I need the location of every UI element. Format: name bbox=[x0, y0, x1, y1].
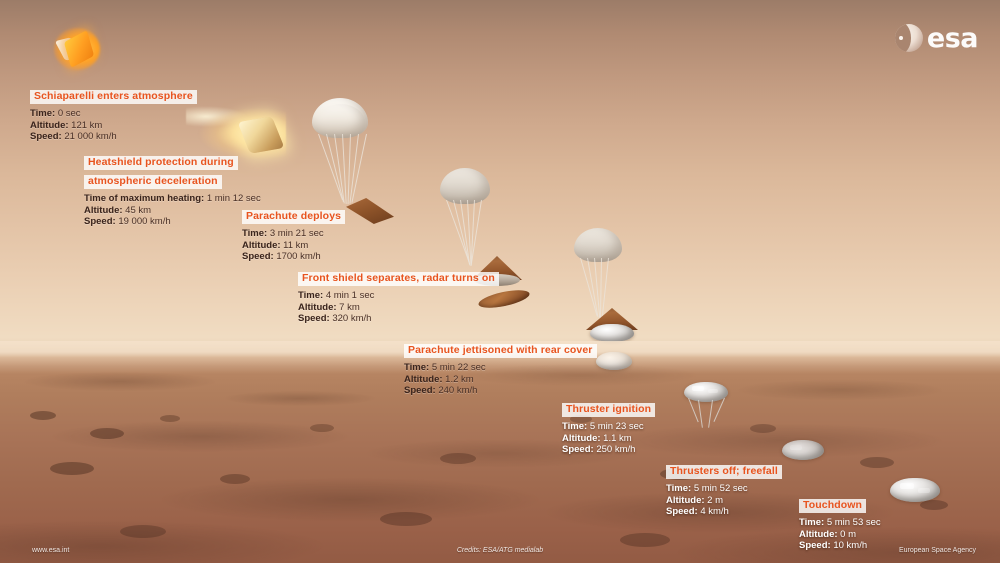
field-altitude-value: 0 m bbox=[840, 529, 856, 540]
field-altitude-label: Altitude: bbox=[30, 120, 69, 131]
label-title: Thrusters off; freefall bbox=[666, 465, 782, 480]
label-parachute-jettisoned: Parachute jettisoned with rear cover Tim… bbox=[404, 340, 597, 397]
field-speed-value: 19 000 km/h bbox=[118, 216, 170, 227]
label-rows: Time: 5 min 53 sec Altitude: 0 m Speed: … bbox=[799, 517, 881, 552]
field-time-value: 3 min 21 sec bbox=[270, 228, 324, 239]
label-time-row: Time: 3 min 21 sec bbox=[242, 228, 345, 240]
field-speed-value: 320 km/h bbox=[332, 313, 371, 324]
field-speed-value: 240 km/h bbox=[438, 385, 477, 396]
field-speed-value: 4 km/h bbox=[700, 506, 729, 517]
label-heatshield: Heatshield protection during atmospheric… bbox=[84, 152, 261, 228]
touchdown-lander-graphic bbox=[890, 478, 946, 510]
label-rows: Time: 4 min 1 sec Altitude: 7 km Speed: … bbox=[298, 290, 499, 325]
label-altitude-row: Altitude: 45 km bbox=[84, 205, 261, 217]
field-time-label: Time: bbox=[666, 483, 691, 494]
label-rows: Time: 5 min 23 sec Altitude: 1.1 km Spee… bbox=[562, 421, 655, 456]
label-altitude-row: Altitude: 7 km bbox=[298, 302, 499, 314]
field-altitude-label: Altitude: bbox=[242, 240, 281, 251]
label-speed-row: Speed: 320 km/h bbox=[298, 313, 499, 325]
field-time-label: Time: bbox=[242, 228, 267, 239]
label-time-row: Time: 5 min 22 sec bbox=[404, 362, 597, 374]
lander-module bbox=[890, 478, 940, 502]
esa-wordmark: esa bbox=[927, 25, 978, 52]
thruster-plume bbox=[698, 400, 703, 428]
label-title: Touchdown bbox=[799, 499, 866, 514]
label-altitude-row: Altitude: 1.2 km bbox=[404, 374, 597, 386]
label-time-row: Time: 5 min 23 sec bbox=[562, 421, 655, 433]
field-speed-value: 21 000 km/h bbox=[64, 131, 116, 142]
label-speed-row: Speed: 19 000 km/h bbox=[84, 216, 261, 228]
field-altitude-value: 121 km bbox=[71, 120, 102, 131]
field-time-label: Time: bbox=[298, 290, 323, 301]
website-url[interactable]: www.esa.int bbox=[32, 547, 69, 554]
entry-capsule-graphic bbox=[54, 28, 104, 76]
parachute-canopy-shadow bbox=[316, 104, 366, 138]
label-speed-row: Speed: 4 km/h bbox=[666, 506, 782, 518]
parachute-canopy bbox=[440, 168, 490, 204]
field-time-label: Time: bbox=[404, 362, 429, 373]
field-time-label: Time: bbox=[562, 421, 587, 432]
field-speed-label: Speed: bbox=[298, 313, 330, 324]
field-time-value: 5 min 23 sec bbox=[590, 421, 644, 432]
label-altitude-row: Altitude: 2 m bbox=[666, 495, 782, 507]
label-altitude-row: Altitude: 0 m bbox=[799, 529, 881, 541]
label-entry: Schiaparelli enters atmosphere Time: 0 s… bbox=[30, 86, 197, 143]
field-altitude-value: 7 km bbox=[339, 302, 360, 313]
field-altitude-label: Altitude: bbox=[562, 433, 601, 444]
field-altitude-label: Altitude: bbox=[298, 302, 337, 313]
field-altitude-value: 11 km bbox=[283, 240, 308, 251]
label-front-shield-separates: Front shield separates, radar turns on T… bbox=[298, 268, 499, 325]
field-speed-label: Speed: bbox=[799, 540, 831, 551]
parachute-cords bbox=[306, 134, 406, 206]
field-time-label: Time of maximum heating: bbox=[84, 193, 204, 204]
label-rows: Time: 0 sec Altitude: 121 km Speed: 21 0… bbox=[30, 108, 197, 143]
parachute-canopy bbox=[574, 228, 622, 262]
parachute-cords bbox=[436, 200, 546, 268]
thruster-plume bbox=[708, 400, 713, 428]
field-time-value: 5 min 53 sec bbox=[827, 517, 881, 528]
field-time-value: 5 min 52 sec bbox=[694, 483, 748, 494]
field-speed-label: Speed: bbox=[242, 251, 274, 262]
esa-logo[interactable]: esa bbox=[895, 24, 978, 52]
field-altitude-label: Altitude: bbox=[84, 205, 123, 216]
field-speed-value: 250 km/h bbox=[596, 444, 635, 455]
field-time-label: Time: bbox=[799, 517, 824, 528]
field-time-value: 1 min 12 sec bbox=[207, 193, 261, 204]
field-speed-label: Speed: bbox=[84, 216, 116, 227]
field-speed-label: Speed: bbox=[666, 506, 698, 517]
field-time-value: 5 min 22 sec bbox=[432, 362, 486, 373]
esa-globe-icon bbox=[895, 24, 923, 52]
landing-sequence-infographic: Schiaparelli enters atmosphere Time: 0 s… bbox=[0, 0, 1000, 563]
field-speed-value: 1700 km/h bbox=[276, 251, 320, 262]
thruster-plume bbox=[688, 398, 699, 422]
label-time-row: Time: 0 sec bbox=[30, 108, 197, 120]
label-touchdown: Touchdown Time: 5 min 53 sec Altitude: 0… bbox=[799, 495, 881, 552]
field-time-label: Time: bbox=[30, 108, 55, 119]
freefall-lander-graphic bbox=[782, 440, 828, 466]
label-thrusters-off: Thrusters off; freefall Time: 5 min 52 s… bbox=[666, 461, 782, 518]
field-altitude-label: Altitude: bbox=[799, 529, 838, 540]
label-speed-row: Speed: 1700 km/h bbox=[242, 251, 345, 263]
label-title: Parachute jettisoned with rear cover bbox=[404, 344, 597, 359]
label-title: Parachute deploys bbox=[242, 210, 345, 225]
label-time-row: Time: 5 min 52 sec bbox=[666, 483, 782, 495]
label-speed-row: Speed: 250 km/h bbox=[562, 444, 655, 456]
credits-text: Credits: ESA/ATG medialab bbox=[457, 547, 543, 554]
label-speed-row: Speed: 21 000 km/h bbox=[30, 131, 197, 143]
lander-module bbox=[782, 440, 824, 460]
lander-module bbox=[590, 324, 634, 342]
field-time-value: 4 min 1 sec bbox=[326, 290, 375, 301]
label-rows: Time: 5 min 52 sec Altitude: 2 m Speed: … bbox=[666, 483, 782, 518]
field-speed-label: Speed: bbox=[562, 444, 594, 455]
label-speed-row: Speed: 10 km/h bbox=[799, 540, 881, 552]
label-title-line2: atmospheric deceleration bbox=[84, 175, 222, 190]
label-title: Schiaparelli enters atmosphere bbox=[30, 90, 197, 105]
label-altitude-row: Altitude: 11 km bbox=[242, 240, 345, 252]
lander-freefall bbox=[596, 352, 632, 370]
label-rows: Time: 3 min 21 sec Altitude: 11 km Speed… bbox=[242, 228, 345, 263]
parachute-cords bbox=[566, 258, 666, 320]
field-altitude-value: 45 km bbox=[125, 205, 151, 216]
label-title: Thruster ignition bbox=[562, 403, 655, 418]
agency-name: European Space Agency bbox=[899, 547, 976, 554]
label-title: Heatshield protection during bbox=[84, 156, 238, 171]
label-title: Front shield separates, radar turns on bbox=[298, 272, 499, 287]
field-speed-label: Speed: bbox=[30, 131, 62, 142]
label-speed-row: Speed: 240 km/h bbox=[404, 385, 597, 397]
label-rows: Time of maximum heating: 1 min 12 sec Al… bbox=[84, 193, 261, 228]
thruster-ignition-graphic bbox=[676, 382, 746, 430]
thruster-plume bbox=[713, 398, 724, 422]
field-altitude-value: 1.1 km bbox=[603, 433, 632, 444]
lander-module bbox=[684, 382, 728, 402]
field-speed-label: Speed: bbox=[404, 385, 436, 396]
field-time-value: 0 sec bbox=[58, 108, 81, 119]
label-time-row: Time: 4 min 1 sec bbox=[298, 290, 499, 302]
field-altitude-label: Altitude: bbox=[404, 374, 443, 385]
label-rows: Time: 5 min 22 sec Altitude: 1.2 km Spee… bbox=[404, 362, 597, 397]
label-altitude-row: Altitude: 1.1 km bbox=[562, 433, 655, 445]
label-altitude-row: Altitude: 121 km bbox=[30, 120, 197, 132]
label-time-row: Time of maximum heating: 1 min 12 sec bbox=[84, 193, 261, 205]
label-parachute-deploy: Parachute deploys Time: 3 min 21 sec Alt… bbox=[242, 206, 345, 263]
field-altitude-label: Altitude: bbox=[666, 495, 705, 506]
label-thruster-ignition: Thruster ignition Time: 5 min 23 sec Alt… bbox=[562, 399, 655, 456]
field-altitude-value: 1.2 km bbox=[445, 374, 474, 385]
field-altitude-value: 2 m bbox=[707, 495, 723, 506]
label-time-row: Time: 5 min 53 sec bbox=[799, 517, 881, 529]
field-speed-value: 10 km/h bbox=[833, 540, 867, 551]
